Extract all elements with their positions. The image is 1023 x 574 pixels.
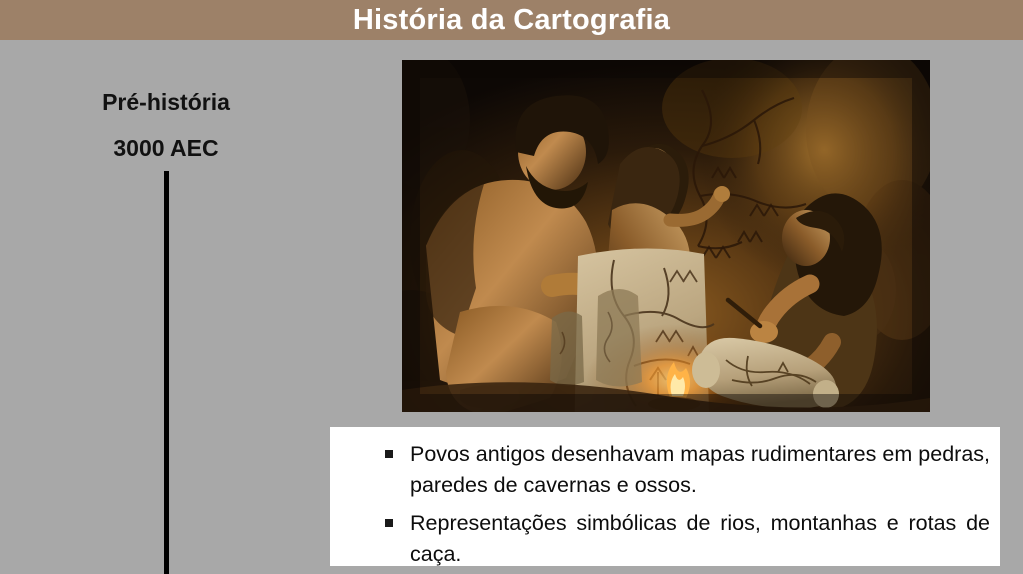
slide-title-bar: História da Cartografia xyxy=(0,0,1023,40)
page-title: História da Cartografia xyxy=(353,6,670,35)
bullet-list: Povos antigos desenhavam mapas rudimenta… xyxy=(340,439,990,569)
woman-hand xyxy=(750,321,778,343)
square-bullet-icon xyxy=(385,519,393,527)
square-bullet-icon xyxy=(385,450,393,458)
slide: História da Cartografia Pré-história 300… xyxy=(0,0,1023,574)
timeline-era-label: Pré-história xyxy=(46,48,286,118)
content-text-box: Povos antigos desenhavam mapas rudimenta… xyxy=(330,427,1000,566)
prehistoric-cave-illustration xyxy=(402,60,930,412)
timeline-era-date: 3000 AEC xyxy=(46,118,286,164)
timeline-column: Pré-história 3000 AEC xyxy=(46,48,286,164)
timeline-vertical-rule xyxy=(164,171,169,574)
bullet-text: Povos antigos desenhavam mapas rudimenta… xyxy=(410,439,990,500)
list-item: Representações simbólicas de rios, monta… xyxy=(340,508,990,569)
bullet-text: Representações simbólicas de rios, monta… xyxy=(410,508,990,569)
list-item: Povos antigos desenhavam mapas rudimenta… xyxy=(340,439,990,500)
cave-scene-artwork xyxy=(402,60,930,412)
